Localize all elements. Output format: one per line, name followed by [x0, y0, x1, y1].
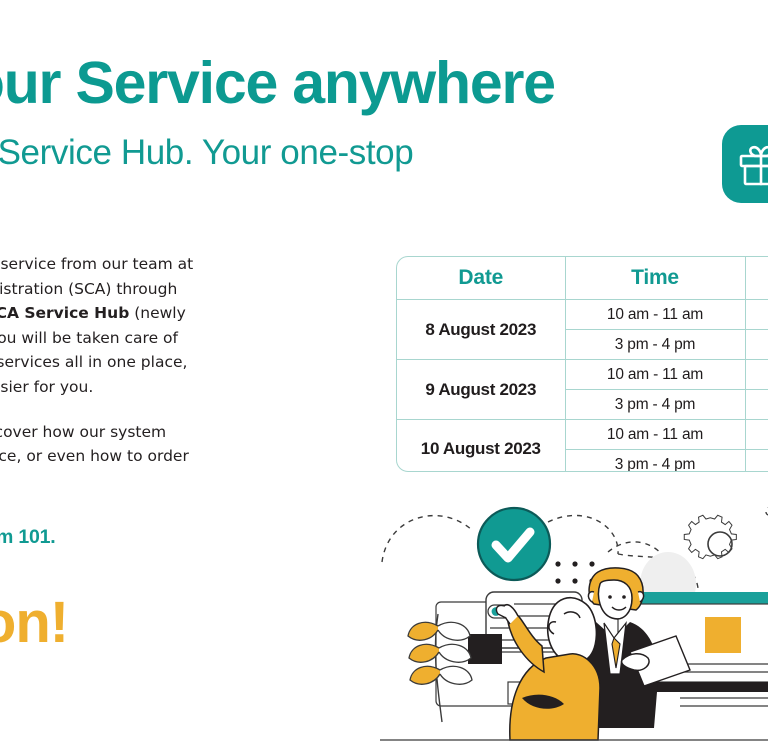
table-row: 9 August 2023 10 am - 11 am [397, 360, 768, 390]
check-circle-icon [478, 508, 550, 580]
cell-date-1: 9 August 2023 [397, 360, 565, 420]
body-copy: requesting for a service from our team a… [0, 252, 372, 513]
cell-time-2-0: 10 am - 11 am [565, 420, 745, 450]
body-paragraph-1-bold: SCA Service Hub [0, 304, 129, 322]
cell-extra-1-0 [745, 360, 768, 390]
page-title: est our Service anywhere [0, 52, 768, 114]
teal-note: m will also be Identity System 101. [0, 494, 432, 552]
body-paragraph-2: roadshow to discover how our system ques… [0, 420, 372, 494]
poster-canvas: est our Service anywhere ng SCA Service … [0, 0, 768, 750]
table-row: 10 August 2023 10 am - 11 am [397, 420, 768, 450]
cell-extra-2-0 [745, 420, 768, 450]
gift-badge [722, 125, 768, 203]
body-paragraph-1: requesting for a service from our team a… [0, 252, 372, 400]
cell-time-0-1: 3 pm - 4 pm [565, 330, 745, 360]
cell-date-2: 10 August 2023 [397, 420, 565, 473]
column-header-time: Time [565, 257, 745, 300]
table-header-row: Date Time [397, 257, 768, 300]
cell-date-0: 8 August 2023 [397, 300, 565, 360]
gear-icon [684, 515, 736, 558]
service-hub-illustration [380, 492, 768, 750]
page-subtitle: ng SCA Service Hub. Your one-stop ce hub… [0, 128, 692, 228]
cell-time-0-0: 10 am - 11 am [565, 300, 745, 330]
cell-time-2-1: 3 pm - 4 pm [565, 450, 745, 473]
page-subtitle-text: ng SCA Service Hub. Your one-stop ce hub… [0, 133, 413, 222]
cell-extra-0-1 [745, 330, 768, 360]
column-header-extra [745, 257, 768, 300]
cell-time-1-0: 10 am - 11 am [565, 360, 745, 390]
table-row: 8 August 2023 10 am - 11 am [397, 300, 768, 330]
cell-extra-2-1 [745, 450, 768, 473]
column-header-date: Date [397, 257, 565, 300]
cell-extra-0-0 [745, 300, 768, 330]
cell-extra-1-1 [745, 390, 768, 420]
cell-time-1-1: 3 pm - 4 pm [565, 390, 745, 420]
schedule-table: Date Time 8 August 2023 10 am - 11 am 3 … [396, 256, 768, 472]
